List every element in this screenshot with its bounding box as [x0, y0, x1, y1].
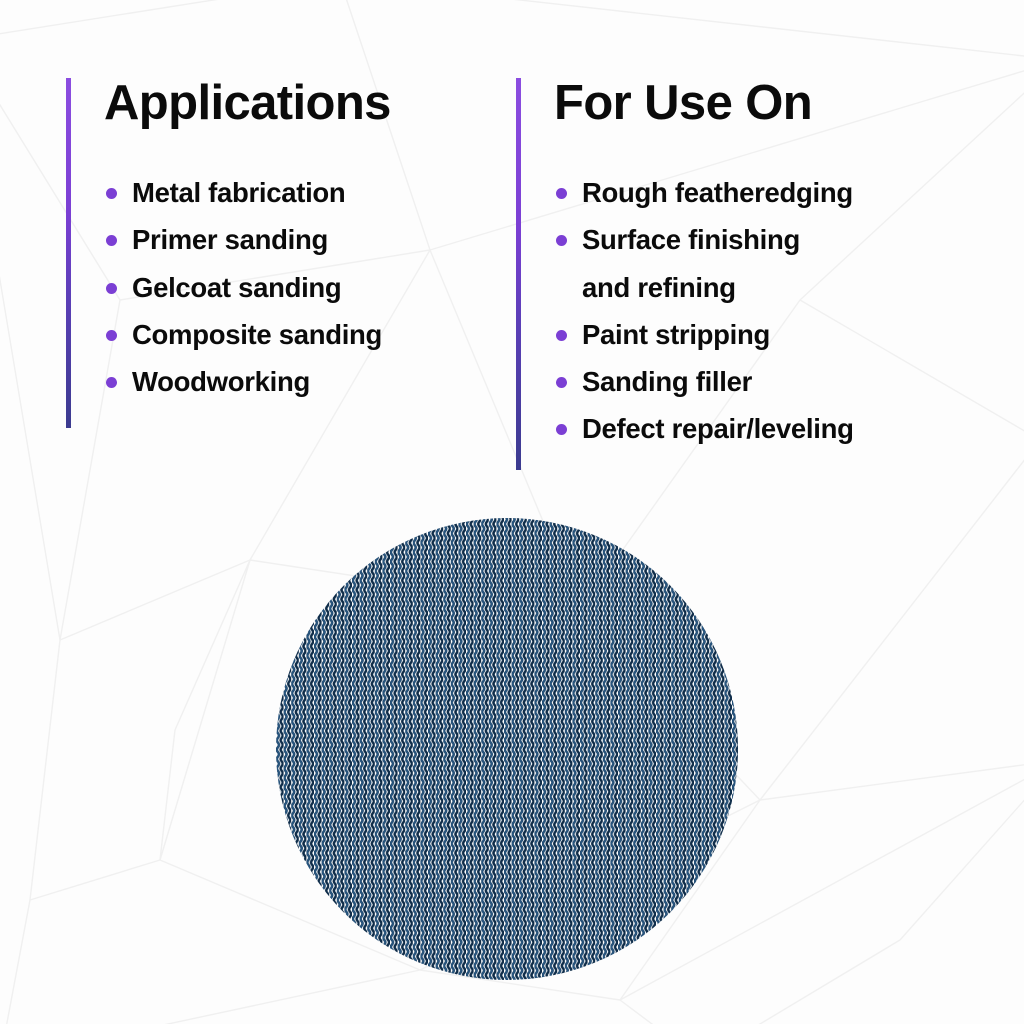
list-item: Rough featheredging — [554, 169, 986, 216]
list-item: Defect repair/leveling — [554, 405, 986, 452]
list-item: Composite sanding — [104, 311, 506, 358]
column-divider-applications — [66, 78, 71, 428]
feature-columns: Applications Metal fabrication Primer sa… — [0, 78, 1024, 453]
mesh-sanding-disc-image — [276, 518, 738, 980]
list-item: Sanding filler — [554, 358, 986, 405]
column-for-use-on: For Use On Rough featheredging Surface f… — [516, 78, 986, 453]
column-title-for-use-on: For Use On — [554, 78, 986, 129]
column-applications: Applications Metal fabrication Primer sa… — [66, 78, 506, 453]
list-item: Primer sanding — [104, 216, 506, 263]
list-item: Woodworking — [104, 358, 506, 405]
list-item: Gelcoat sanding — [104, 264, 506, 311]
for-use-on-list: Rough featheredging Surface finishing an… — [554, 169, 986, 453]
list-item: Paint stripping — [554, 311, 986, 358]
mesh-sanding-disc-graphic — [276, 518, 738, 980]
list-item: Surface finishing and refining — [554, 216, 986, 311]
column-divider-for-use-on — [516, 78, 521, 470]
applications-list: Metal fabrication Primer sanding Gelcoat… — [104, 169, 506, 405]
column-title-applications: Applications — [104, 78, 506, 129]
poster-canvas: Applications Metal fabrication Primer sa… — [0, 0, 1024, 1024]
list-item: Metal fabrication — [104, 169, 506, 216]
